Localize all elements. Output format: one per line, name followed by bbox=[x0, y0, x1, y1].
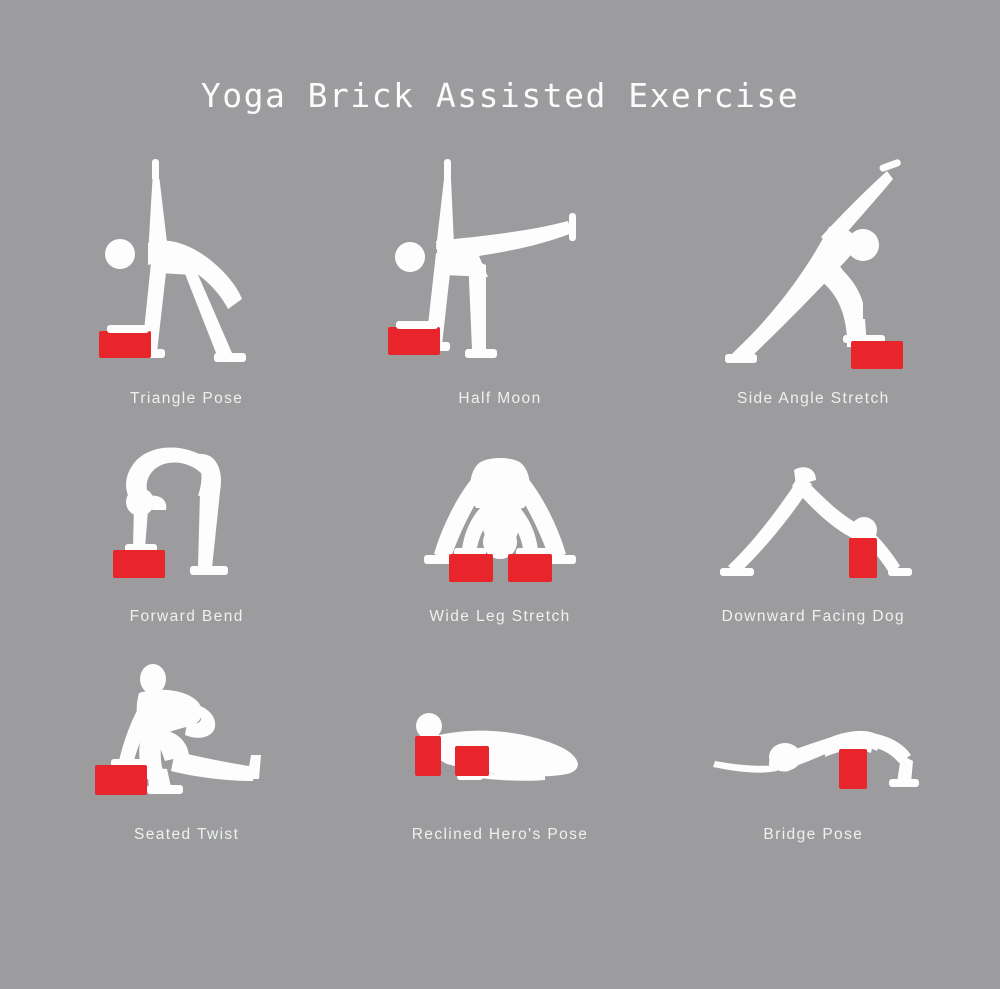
pose-label: Seated Twist bbox=[134, 826, 239, 844]
pose-card-wide-leg-stretch[interactable]: Wide Leg Stretch bbox=[343, 408, 656, 626]
seated-twist-figure bbox=[89, 663, 284, 808]
yoga-brick bbox=[388, 327, 440, 355]
forward-bend-figure bbox=[112, 440, 262, 590]
pose-card-bridge-pose[interactable]: Bridge Pose bbox=[657, 626, 970, 844]
half-moon-figure bbox=[392, 157, 607, 372]
reclined-heros-pose-icon bbox=[350, 638, 650, 808]
yoga-brick bbox=[99, 331, 151, 358]
side-angle-stretch-figure bbox=[711, 157, 916, 372]
wide-leg-stretch-icon bbox=[350, 420, 650, 590]
pose-card-seated-twist[interactable]: Seated Twist bbox=[30, 626, 343, 844]
pose-label: Reclined Hero's Pose bbox=[412, 826, 589, 844]
figure-body bbox=[725, 158, 902, 363]
pose-card-reclined-heros-pose[interactable]: Reclined Hero's Pose bbox=[343, 626, 656, 844]
bridge-pose-icon bbox=[663, 638, 963, 808]
pose-card-half-moon[interactable]: Half Moon bbox=[343, 190, 656, 408]
figure-body bbox=[424, 458, 576, 564]
hand-on-brick bbox=[396, 321, 438, 329]
yoga-brick bbox=[95, 765, 147, 795]
figure-body bbox=[720, 467, 912, 576]
pose-card-downward-facing-dog[interactable]: Downward Facing Dog bbox=[657, 408, 970, 626]
pose-label: Forward Bend bbox=[130, 608, 244, 626]
downward-facing-dog-figure bbox=[716, 460, 911, 590]
wide-leg-stretch-figure bbox=[420, 450, 580, 590]
forward-bend-icon bbox=[37, 420, 337, 590]
yoga-brick-left bbox=[449, 554, 493, 582]
side-angle-stretch-icon bbox=[663, 202, 963, 372]
pose-label: Triangle Pose bbox=[130, 390, 243, 408]
figure-body bbox=[713, 731, 919, 787]
seated-twist-icon bbox=[37, 638, 337, 808]
yoga-brick bbox=[113, 550, 165, 578]
pose-card-forward-bend[interactable]: Forward Bend bbox=[30, 408, 343, 626]
pose-label: Side Angle Stretch bbox=[737, 390, 890, 408]
hand-on-brick bbox=[107, 325, 149, 333]
yoga-poster: Yoga Brick Assisted Exercise bbox=[0, 0, 1000, 989]
pose-label: Downward Facing Dog bbox=[722, 608, 905, 626]
page-title: Yoga Brick Assisted Exercise bbox=[0, 76, 1000, 115]
yoga-brick bbox=[851, 341, 903, 369]
pose-card-side-angle-stretch[interactable]: Side Angle Stretch bbox=[657, 190, 970, 408]
bridge-pose-figure bbox=[711, 713, 916, 808]
triangle-pose-figure bbox=[102, 157, 272, 372]
pose-card-triangle-pose[interactable]: Triangle Pose bbox=[30, 190, 343, 408]
pose-label: Wide Leg Stretch bbox=[429, 608, 570, 626]
pose-label: Bridge Pose bbox=[763, 826, 863, 844]
reclined-heros-pose-figure bbox=[405, 708, 595, 808]
yoga-brick-right bbox=[508, 554, 552, 582]
triangle-pose-icon bbox=[37, 202, 337, 372]
yoga-brick bbox=[839, 749, 867, 789]
downward-facing-dog-icon bbox=[663, 420, 963, 590]
yoga-brick-head bbox=[415, 736, 441, 776]
pose-grid: Triangle Pose bbox=[30, 190, 970, 844]
yoga-brick bbox=[849, 538, 877, 578]
half-moon-icon bbox=[350, 202, 650, 372]
yoga-brick-back bbox=[455, 746, 489, 776]
pose-label: Half Moon bbox=[458, 390, 541, 408]
